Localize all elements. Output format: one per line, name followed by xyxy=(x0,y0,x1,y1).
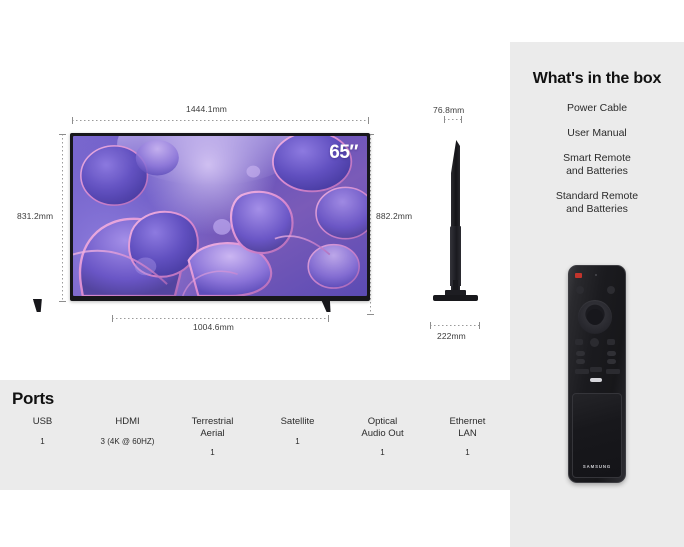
whats-in-the-box-title: What's in the box xyxy=(510,70,684,88)
dimension-line-panel-height xyxy=(62,134,63,301)
dimension-stand-depth: 222mm xyxy=(437,331,466,341)
port-item: Ethernet LAN 1 xyxy=(425,416,510,457)
box-item-line1: Power Cable xyxy=(567,102,627,114)
box-item-line1: User Manual xyxy=(567,127,627,139)
guide-button-icon xyxy=(606,369,620,374)
back-button-icon xyxy=(575,339,583,345)
dimension-line-total-height xyxy=(370,134,371,314)
home-button-icon xyxy=(590,338,599,347)
port-value: 1 xyxy=(170,448,255,457)
port-value: 3 (4K @ 60HZ) xyxy=(85,437,170,446)
port-label: Satellite xyxy=(255,416,340,428)
indicator-led-icon xyxy=(595,274,597,276)
dimension-front-width: 1444.1mm xyxy=(186,104,227,114)
port-item: Terrestrial Aerial 1 xyxy=(170,416,255,457)
box-item: User Manual xyxy=(510,127,684,140)
port-item: USB 1 xyxy=(0,416,85,446)
port-value: 1 xyxy=(255,437,340,446)
dimension-total-height: 882.2mm xyxy=(376,211,412,221)
netflix-button-icon xyxy=(575,369,589,374)
port-label: Ethernet LAN xyxy=(425,416,510,439)
color-button-icon xyxy=(607,286,615,294)
channel-up-icon xyxy=(607,351,616,356)
dimension-line-stand-width xyxy=(112,318,329,319)
directional-pad-icon xyxy=(578,300,612,334)
port-value: 1 xyxy=(0,437,85,446)
dimension-cap xyxy=(461,116,462,123)
play-pause-button-icon xyxy=(607,339,615,345)
dimension-line-front-width xyxy=(72,120,369,121)
remote-button-face xyxy=(573,271,621,387)
microphone-button-icon xyxy=(576,286,584,294)
dimension-cap xyxy=(479,322,480,329)
dimension-cap xyxy=(444,116,445,123)
dimension-panel-height: 831.2mm xyxy=(17,211,53,221)
dimension-cap xyxy=(367,314,374,315)
port-item: HDMI 3 (4K @ 60HZ) xyxy=(85,416,170,446)
channel-down-icon xyxy=(607,359,616,364)
box-item: Power Cable xyxy=(510,102,684,115)
solar-cell-panel: SAMSUNG xyxy=(572,393,622,478)
tv-side-housing xyxy=(450,226,461,286)
dimension-cap xyxy=(59,134,66,135)
tv-stand-base xyxy=(433,295,478,301)
tv-screen-artwork: 65″ xyxy=(73,136,367,296)
dimension-cap xyxy=(368,117,369,124)
box-item: Standard Remote and Batteries xyxy=(510,190,684,216)
smart-remote-image: SAMSUNG xyxy=(568,265,626,483)
port-item: Optical Audio Out 1 xyxy=(340,416,425,457)
prime-video-button-icon xyxy=(590,367,602,372)
port-label: USB xyxy=(0,416,85,428)
dimension-line-stand-depth xyxy=(430,325,480,326)
port-value: 1 xyxy=(340,448,425,457)
screen-size-badge: 65″ xyxy=(329,142,358,164)
port-label: Optical Audio Out xyxy=(340,416,425,439)
dimension-cap xyxy=(72,117,73,124)
dimension-cap xyxy=(328,315,329,322)
port-item: Satellite 1 xyxy=(255,416,340,446)
tv-front-view: 65″ xyxy=(70,133,370,301)
port-value: 1 xyxy=(425,448,510,457)
volume-up-icon xyxy=(576,351,585,356)
dimension-line-depth xyxy=(444,119,462,120)
tv-side-view xyxy=(425,140,485,308)
port-label: Terrestrial Aerial xyxy=(170,416,255,439)
box-items-list: Power Cable User Manual Smart Remote and… xyxy=(510,102,684,228)
tv-foot-left xyxy=(33,299,44,312)
box-item-line2: and Batteries xyxy=(510,165,684,178)
power-button-icon xyxy=(575,273,582,278)
mute-icon xyxy=(576,359,585,364)
ports-title: Ports xyxy=(12,389,54,409)
dimension-cap xyxy=(430,322,431,329)
spec-sheet-canvas: 1444.1mm 831.2mm 882.2mm 1004.6mm xyxy=(0,0,684,547)
dimension-depth: 76.8mm xyxy=(433,105,464,115)
samsung-tv-plus-button-icon xyxy=(590,378,602,382)
box-item-line2: and Batteries xyxy=(510,203,684,216)
box-item-line1: Smart Remote xyxy=(563,152,631,164)
dimension-cap xyxy=(59,301,66,302)
dimension-cap xyxy=(112,315,113,322)
dimension-stand-width: 1004.6mm xyxy=(193,322,234,332)
box-item-line1: Standard Remote xyxy=(556,190,638,202)
ports-list: USB 1 HDMI 3 (4K @ 60HZ) Terrestrial Aer… xyxy=(0,416,510,457)
samsung-logo: SAMSUNG xyxy=(583,464,611,469)
box-item: Smart Remote and Batteries xyxy=(510,152,684,178)
port-label: HDMI xyxy=(85,416,170,428)
